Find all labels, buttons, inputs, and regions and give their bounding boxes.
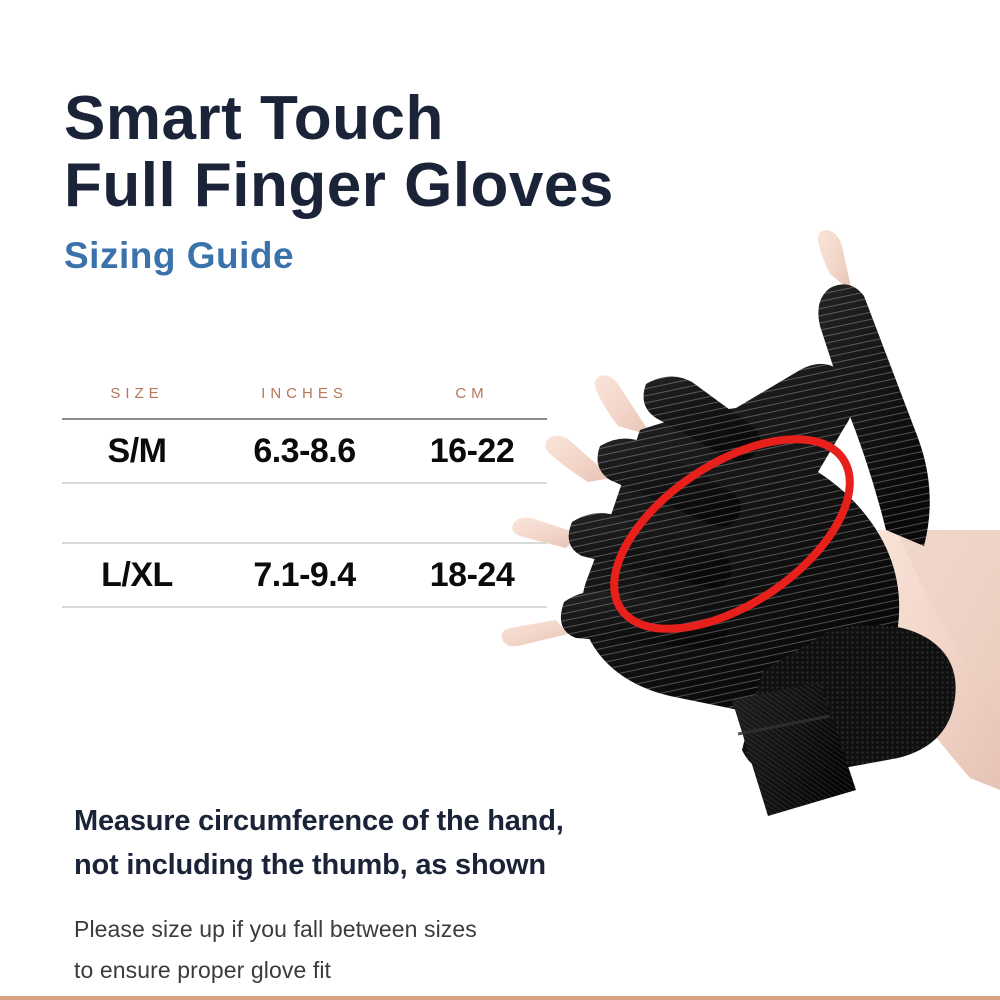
table-row: S/M 6.3-8.6 16-22 [62,420,547,482]
table-header-row: SIZE INCHES CM [62,385,547,418]
page-subtitle: Sizing Guide [64,236,614,277]
instructions: Measure circumference of the hand, not i… [74,800,564,989]
cell-size: S/M [62,432,212,471]
instruction-headline-1: Measure circumference of the hand, [74,800,564,844]
instruction-headline-2: not including the thumb, as shown [74,844,564,888]
column-header-size: SIZE [62,385,212,402]
sizing-guide-page: Smart Touch Full Finger Gloves Sizing Gu… [0,0,1000,1000]
instruction-note-1: Please size up if you fall between sizes [74,911,564,948]
sizing-table: SIZE INCHES CM S/M 6.3-8.6 16-22 L/XL 7.… [62,385,547,608]
column-header-cm: CM [397,385,547,402]
table-bottom-rule [62,606,547,608]
cell-cm: 18-24 [397,556,547,595]
table-row: L/XL 7.1-9.4 18-24 [62,544,547,606]
cell-inches: 6.3-8.6 [212,432,397,471]
title-line-2: Full Finger Gloves [64,153,614,220]
table-spacer-row [62,484,547,542]
cell-size: L/XL [62,556,212,595]
instruction-note-2: to ensure proper glove fit [74,952,564,989]
cell-cm: 16-22 [397,432,547,471]
column-header-inches: INCHES [212,385,397,402]
cell-inches: 7.1-9.4 [212,556,397,595]
title-line-1: Smart Touch [64,86,614,153]
page-title: Smart Touch Full Finger Gloves Sizing Gu… [64,86,614,277]
product-image [500,230,1000,820]
